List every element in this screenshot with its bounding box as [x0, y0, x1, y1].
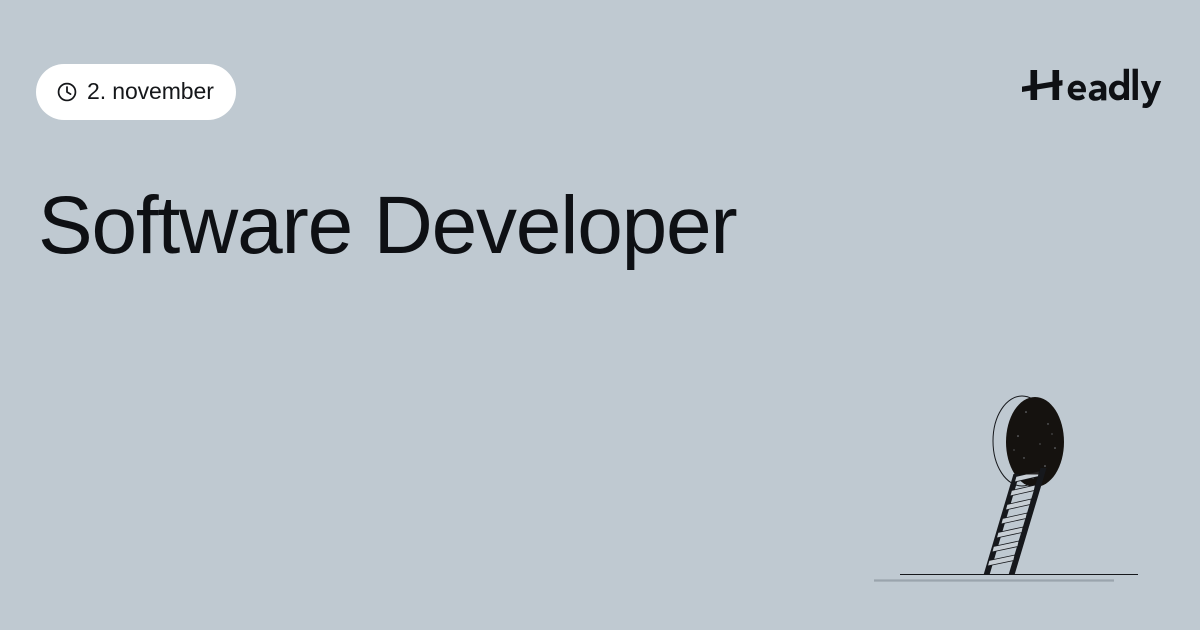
ground-line: [874, 575, 1138, 581]
ladder-to-portal-illustration: [862, 388, 1174, 590]
date-badge: 2. november: [36, 64, 236, 120]
page-title: Software Developer: [38, 182, 1068, 271]
headly-logo[interactable]: Headly: [1022, 62, 1162, 108]
date-label: 2. november: [87, 80, 214, 104]
brand-name: Headly: [1022, 108, 1023, 109]
ladder: [984, 468, 1047, 575]
clock-icon: [56, 81, 78, 103]
social-share-card: 2. november Headly Software Developer: [0, 0, 1200, 630]
